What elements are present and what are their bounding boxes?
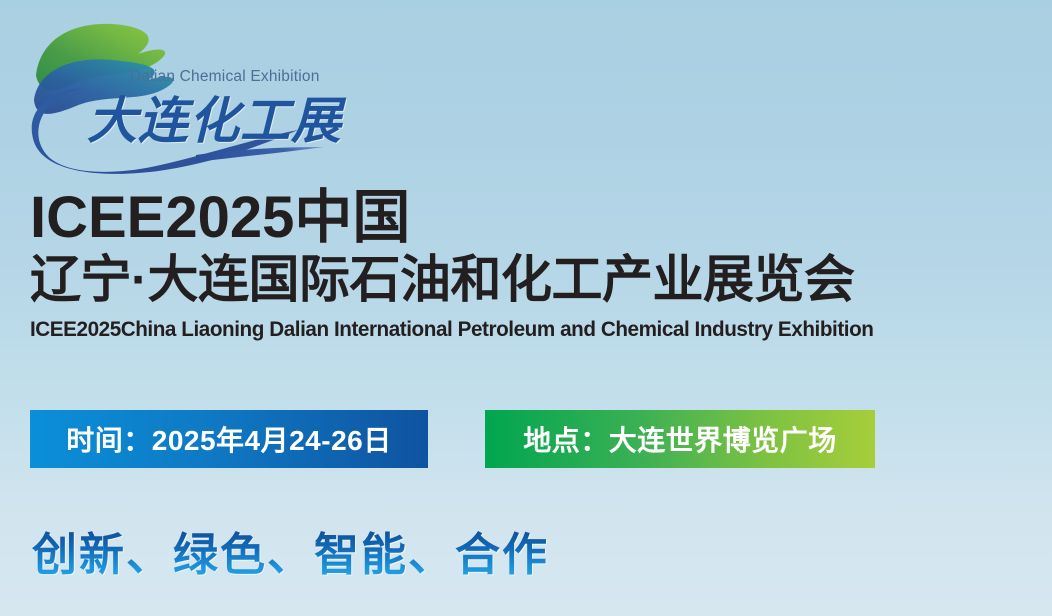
- exhibition-poster: Dalian Chemical Exhibition 大连化工展 ICEE202…: [0, 0, 1052, 616]
- exhibition-logo: Dalian Chemical Exhibition 大连化工展: [26, 14, 356, 174]
- page-title-line2: 辽宁·大连国际石油和化工产业展览会: [30, 250, 1030, 310]
- slogan-text: 创新、绿色、智能、合作: [32, 527, 549, 583]
- logo-chinese-name: 大连化工展: [87, 93, 342, 149]
- swoosh-line-icon: [196, 147, 324, 162]
- page-title-line1: ICEE2025中国: [30, 186, 1030, 250]
- logo-english-name: Dalian Chemical Exhibition: [130, 68, 320, 86]
- date-badge: 时间：2025年4月24-26日: [30, 410, 428, 468]
- page-title-english: ICEE2025China Liaoning Dalian Internatio…: [30, 318, 1015, 342]
- title-area: ICEE2025中国 辽宁·大连国际石油和化工产业展览会 ICEE2025Chi…: [30, 186, 1030, 342]
- venue-badge: 地点：大连世界博览广场: [485, 410, 875, 468]
